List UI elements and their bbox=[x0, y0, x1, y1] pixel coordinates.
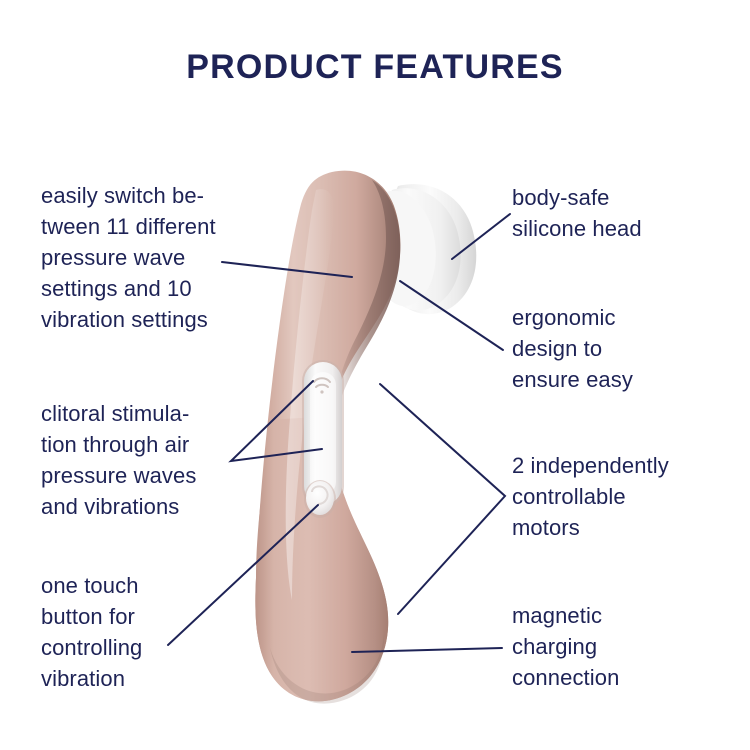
label-ergonomic-design: ergonomic design to ensure easy bbox=[512, 302, 732, 395]
leader-body-safe-head bbox=[452, 214, 510, 259]
label-body-safe-head: body-safe silicone head bbox=[512, 182, 732, 244]
leader-ergonomic-design bbox=[400, 281, 503, 350]
label-pressure-wave-settings: easily switch be- tween 11 different pre… bbox=[41, 180, 276, 335]
label-magnetic-charging: magnetic charging connection bbox=[512, 600, 737, 693]
product-features-infographic: PRODUCT FEATURES bbox=[0, 0, 750, 750]
label-one-touch-button: one touch button for controlling vibrati… bbox=[41, 570, 241, 694]
leader-independent-motors bbox=[380, 384, 505, 614]
label-independent-motors: 2 independently controllable motors bbox=[512, 450, 742, 543]
label-clitoral-stimulation: clitoral stimula- tion through air press… bbox=[41, 398, 276, 522]
leader-magnetic-charging bbox=[352, 648, 502, 652]
